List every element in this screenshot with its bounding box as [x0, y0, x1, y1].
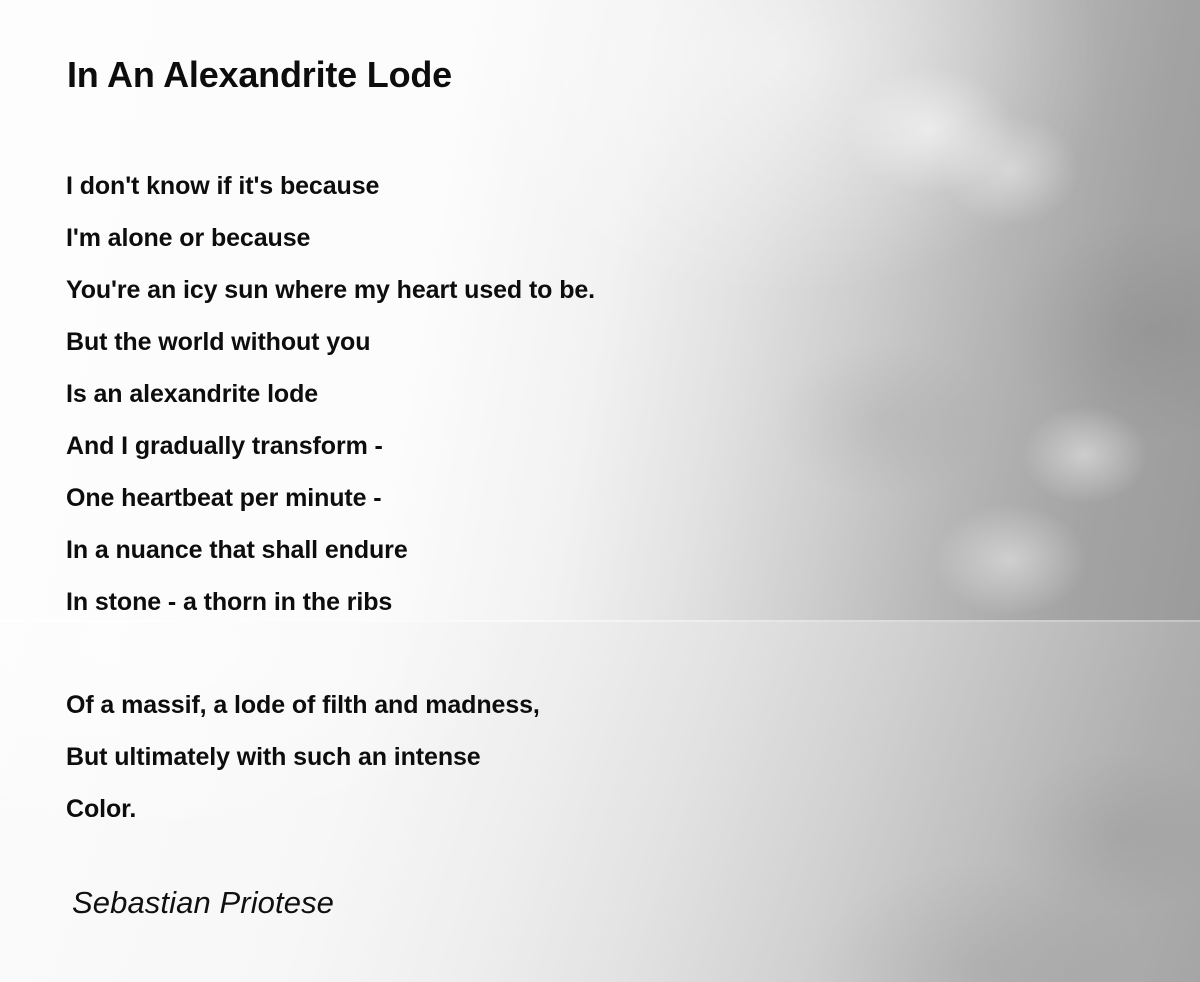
poem-title: In An Alexandrite Lode [67, 54, 452, 96]
poem-line: In stone - a thorn in the ribs [66, 576, 966, 628]
poem-line: One heartbeat per minute - [66, 472, 966, 524]
poem-line: Of a massif, a lode of filth and madness… [66, 679, 966, 731]
poem-line: Color. [66, 783, 966, 835]
poem-line: I'm alone or because [66, 212, 966, 264]
poem-stanza-two: Of a massif, a lode of filth and madness… [66, 679, 966, 835]
poem-line: And I gradually transform - [66, 420, 966, 472]
poem-line: Is an alexandrite lode [66, 368, 966, 420]
poem-line: But ultimately with such an intense [66, 731, 966, 783]
poem-image-card: In An Alexandrite Lode I don't know if i… [0, 0, 1200, 982]
poem-content: In An Alexandrite Lode I don't know if i… [0, 0, 1200, 982]
poem-stanza-one: I don't know if it's because I'm alone o… [66, 160, 966, 628]
poem-line: I don't know if it's because [66, 160, 966, 212]
poem-line: You're an icy sun where my heart used to… [66, 264, 966, 316]
poem-line: But the world without you [66, 316, 966, 368]
poem-author-signature: Sebastian Priotese [72, 885, 334, 921]
poem-line: In a nuance that shall endure [66, 524, 966, 576]
